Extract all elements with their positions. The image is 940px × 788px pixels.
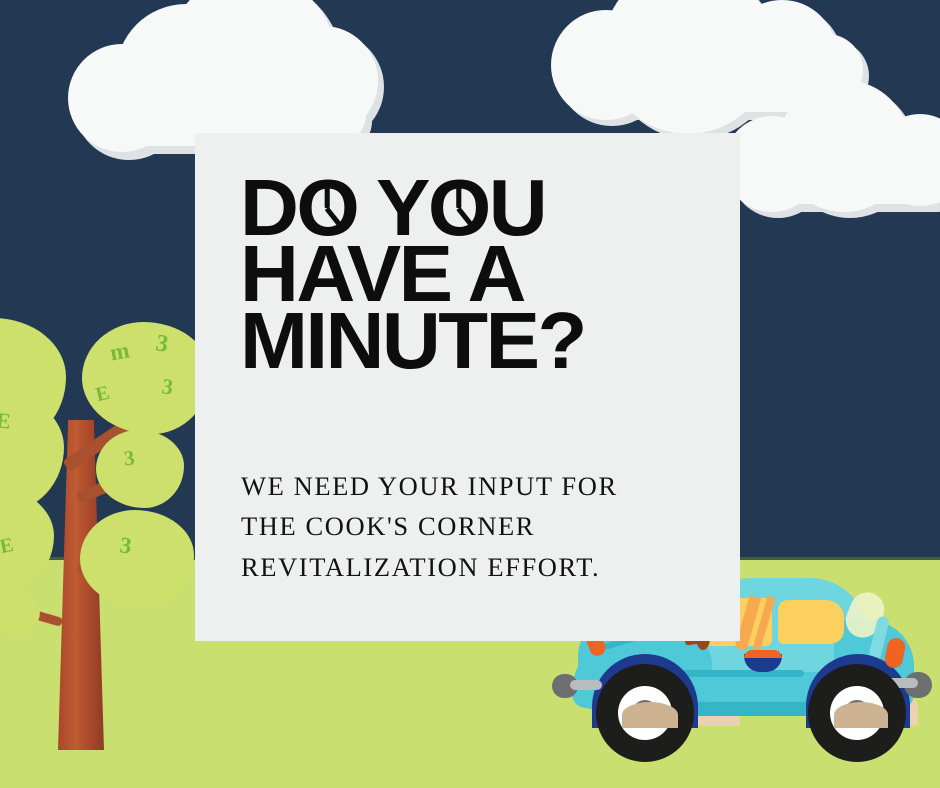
poster-canvas: 3 3 E E m 3 E 3 3 m E 3	[0, 0, 940, 788]
announcement-card: DO YO U HAVE A MINUTE? WE NEED YOUR INPU…	[195, 133, 740, 641]
subtitle-text: WE NEED YOUR INPUT FOR THE COOK'S CORNER…	[241, 466, 711, 587]
subtitle-line-1: WE NEED YOUR INPUT FOR	[241, 466, 711, 506]
tree-foliage	[82, 322, 210, 434]
car-window-rear	[778, 600, 844, 644]
headline-line-1: DO YO U	[240, 175, 719, 241]
tree-foliage	[0, 590, 40, 636]
bumper-front-bar	[570, 680, 602, 690]
leaf-mark: m	[108, 339, 131, 365]
cloud-base	[732, 150, 940, 204]
page-title: DO YO U HAVE A MINUTE?	[240, 175, 719, 374]
car-door-handle-top	[744, 650, 782, 658]
subtitle-line-2: THE COOK'S CORNER	[241, 506, 711, 546]
tree-foliage	[80, 510, 194, 608]
tree-foliage	[96, 430, 184, 508]
clock-minute-hand	[325, 183, 330, 208]
subtitle-line-3: REVITALIZATION EFFORT.	[241, 547, 711, 587]
cloud-icon	[718, 76, 940, 236]
clock-face-icon: O	[428, 175, 489, 241]
dust-cloud	[834, 702, 888, 728]
headline-line-3: MINUTE?	[240, 308, 719, 374]
leaf-mark: 3	[123, 448, 136, 470]
dust-cloud	[622, 702, 678, 728]
clock-minute-hand	[456, 183, 461, 208]
clock-face-icon: O	[296, 175, 357, 241]
